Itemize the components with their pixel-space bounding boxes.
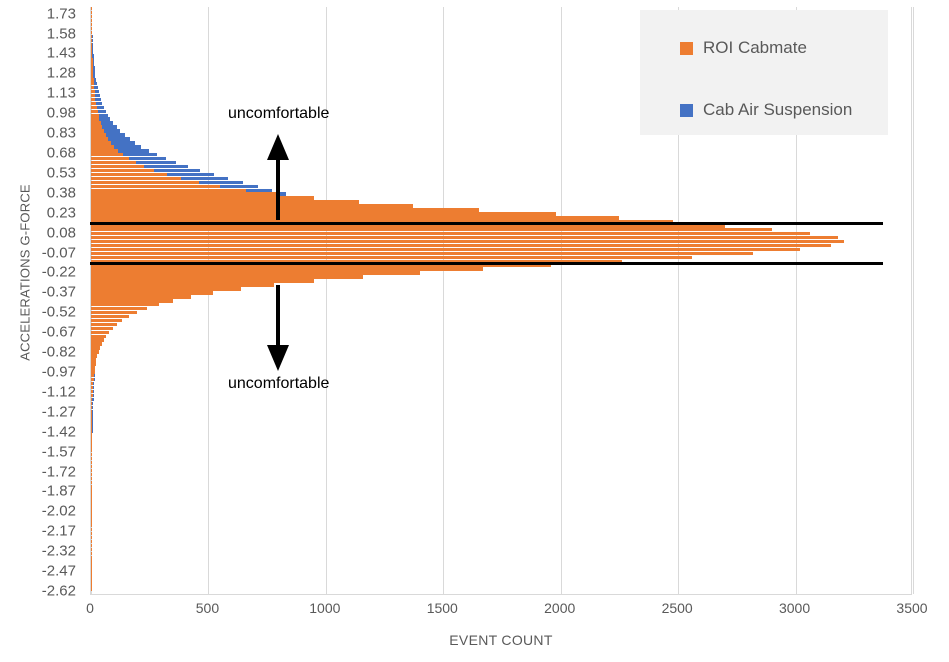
arrow-up-icon [262,134,294,220]
bar-roi-cabmate [91,252,753,255]
table-row [91,496,913,499]
bar-roi-cabmate [91,256,692,259]
y-axis-tick--0.67: -0.67 [42,325,76,340]
table-row [91,453,913,456]
table-row [91,390,913,393]
table-row [91,508,913,511]
x-axis-tick-1000: 1000 [309,600,340,616]
table-row [91,461,913,464]
table-row [91,406,913,409]
y-axis-tick--2.17: -2.17 [42,524,76,539]
legend-label: ROI Cabmate [703,38,807,58]
table-row [91,382,913,385]
bar-roi-cabmate [91,425,92,428]
table-row [91,488,913,491]
table-row [91,256,913,259]
table-row [91,236,913,239]
bar-roi-cabmate [91,437,92,440]
bar-roi-cabmate [91,153,123,156]
y-axis-tick--1.42: -1.42 [42,424,76,439]
bar-roi-cabmate [91,129,104,132]
annotation-uncomfortable-below-label: uncomfortable [228,375,329,393]
table-row [91,473,913,476]
chart-root: ACCELERATIONS G-FORCE 1.731.581.431.281.… [0,0,949,662]
table-row [91,425,913,428]
legend: ROI CabmateCab Air Suspension [640,10,888,135]
x-axis-tick-labels: 0500100015002000250030003500 [90,600,912,622]
y-axis-tick-0.23: 0.23 [47,205,76,220]
table-row [91,327,913,330]
bar-roi-cabmate [91,410,92,413]
table-row [91,516,913,519]
y-axis-tick-labels: 1.731.581.431.281.130.980.830.680.530.38… [0,7,82,595]
y-axis-tick--1.72: -1.72 [42,464,76,479]
x-axis-tick-3500: 3500 [896,600,927,616]
table-row [91,346,913,349]
y-axis-tick--2.02: -2.02 [42,504,76,519]
y-axis-tick--1.12: -1.12 [42,384,76,399]
table-row [91,291,913,294]
table-row [91,362,913,365]
table-row [91,571,913,574]
annotation-uncomfortable-above-label: uncomfortable [228,105,329,123]
x-axis-tick-1500: 1500 [427,600,458,616]
table-row [91,532,913,535]
y-axis-tick--0.37: -0.37 [42,285,76,300]
legend-item-roi-cabmate[interactable]: ROI Cabmate [680,38,807,58]
y-axis-tick--2.62: -2.62 [42,584,76,599]
bar-roi-cabmate [91,406,92,409]
table-row [91,216,913,219]
table-row [91,591,913,594]
y-axis-tick--0.07: -0.07 [42,245,76,260]
bar-roi-cabmate [91,173,167,176]
bar-roi-cabmate [91,299,173,302]
y-axis-tick--1.57: -1.57 [42,444,76,459]
y-axis-tick-0.53: 0.53 [47,165,76,180]
bar-roi-cabmate [91,315,129,318]
table-row [91,315,913,318]
bar-roi-cabmate [91,354,97,357]
table-row [91,161,913,164]
table-row [91,192,913,195]
table-row [91,481,913,484]
table-row [91,279,913,282]
bar-roi-cabmate [91,82,94,85]
table-row [91,228,913,231]
bar-roi-cabmate [91,117,99,120]
bar-roi-cabmate [91,390,93,393]
table-row [91,536,913,539]
bar-roi-cabmate [91,145,114,148]
table-row [91,579,913,582]
bar-roi-cabmate [91,283,274,286]
bar-roi-cabmate [91,137,108,140]
bar-roi-cabmate [91,216,619,219]
table-row [91,445,913,448]
y-axis-tick--0.22: -0.22 [42,265,76,280]
table-row [91,524,913,527]
x-axis-tick-0: 0 [86,600,94,616]
bar-roi-cabmate [91,417,92,420]
x-axis-tick-3000: 3000 [779,600,810,616]
bar-roi-cabmate [91,362,96,365]
table-row [91,319,913,322]
table-row [91,153,913,156]
table-row [91,354,913,357]
bar-roi-cabmate [91,319,122,322]
bar-roi-cabmate [91,370,95,373]
legend-label: Cab Air Suspension [703,100,852,120]
x-axis-tick-2500: 2500 [662,600,693,616]
table-row [91,417,913,420]
y-axis-tick--1.27: -1.27 [42,404,76,419]
table-row [91,500,913,503]
y-axis-tick-0.98: 0.98 [47,106,76,121]
y-axis-tick--0.52: -0.52 [42,305,76,320]
table-row [91,283,913,286]
table-row [91,370,913,373]
bar-roi-cabmate [91,327,113,330]
bar-roi-cabmate [91,181,199,184]
bar-roi-cabmate [91,35,92,38]
bar-roi-cabmate [91,110,98,113]
bar-roi-cabmate [91,244,831,247]
table-row [91,145,913,148]
table-row [91,587,913,590]
legend-item-cab-air-suspension[interactable]: Cab Air Suspension [680,100,852,120]
bar-roi-cabmate [91,271,420,274]
table-row [91,271,913,274]
bar-roi-cabmate [91,335,106,338]
bar-roi-cabmate [91,46,92,49]
bar-roi-cabmate [91,98,95,101]
bar-roi-cabmate [91,66,93,69]
y-axis-tick-0.68: 0.68 [47,146,76,161]
table-row [91,307,913,310]
bar-roi-cabmate [91,433,92,436]
table-row [91,200,913,203]
y-axis-tick-0.83: 0.83 [47,126,76,141]
y-axis-tick-1.28: 1.28 [47,66,76,81]
x-axis-tick-500: 500 [196,600,219,616]
table-row [91,437,913,440]
bar-roi-cabmate [91,307,147,310]
x-axis-title: EVENT COUNT [90,632,912,648]
table-row [91,299,913,302]
table-row [91,398,913,401]
bar-roi-cabmate [91,39,92,42]
y-axis-tick-1.58: 1.58 [47,26,76,41]
bar-roi-cabmate [91,27,92,30]
y-axis-tick--1.87: -1.87 [42,484,76,499]
arrow-down-icon [262,285,294,371]
bar-roi-cabmate [91,382,93,385]
lower-comfort-threshold [90,262,883,265]
y-axis-tick-0.38: 0.38 [47,185,76,200]
y-axis-tick-0.08: 0.08 [47,225,76,240]
bar-roi-cabmate [91,90,95,93]
bar-roi-cabmate [91,342,102,345]
bar-roi-cabmate [91,165,144,168]
bar-roi-cabmate [91,228,772,231]
upper-comfort-threshold [90,222,883,225]
bar-roi-cabmate [91,102,96,105]
bar-roi-cabmate [91,189,246,192]
y-axis-tick--2.32: -2.32 [42,544,76,559]
table-row [91,189,913,192]
gridline-3500 [913,7,914,594]
bar-roi-cabmate [91,200,359,203]
x-axis-tick-2000: 2000 [544,600,575,616]
bar-roi-cabmate [91,74,93,77]
table-row [91,378,913,381]
table-row [91,433,913,436]
bar-roi-cabmate [91,346,100,349]
table-row [91,559,913,562]
table-row [91,208,913,211]
table-row [91,173,913,176]
y-axis-tick--0.97: -0.97 [42,365,76,380]
y-axis-tick--2.47: -2.47 [42,564,76,579]
bar-roi-cabmate [91,378,94,381]
legend-swatch-icon [680,104,693,117]
y-axis-tick-1.43: 1.43 [47,46,76,61]
bar-roi-cabmate [91,161,136,164]
table-row [91,137,913,140]
y-axis-tick-1.13: 1.13 [47,86,76,101]
bar-roi-cabmate [91,236,838,239]
legend-swatch-icon [680,42,693,55]
bar-roi-cabmate [91,291,213,294]
table-row [91,252,913,255]
bar-roi-cabmate [91,279,314,282]
table-row [91,544,913,547]
table-row [91,469,913,472]
table-row [91,410,913,413]
y-axis-tick-1.73: 1.73 [47,6,76,21]
bar-roi-cabmate [91,192,277,195]
table-row [91,335,913,338]
table-row [91,342,913,345]
bar-roi-cabmate [91,19,92,22]
bar-roi-cabmate [91,125,102,128]
table-row [91,181,913,184]
table-row [91,552,913,555]
y-axis-tick--0.82: -0.82 [42,345,76,360]
table-row [91,563,913,566]
table-row [91,244,913,247]
table-row [91,165,913,168]
bar-roi-cabmate [91,62,93,65]
bar-roi-cabmate [91,54,92,57]
bar-roi-cabmate [91,398,92,401]
